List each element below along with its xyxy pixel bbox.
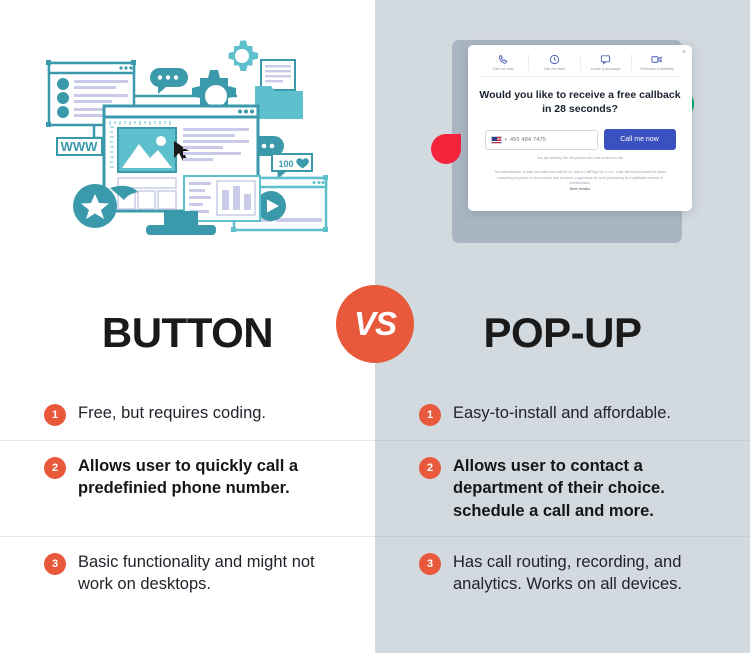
- row-1-left-text: Free, but requires coding.: [78, 402, 266, 424]
- popup-form-row: ▾ 455 484 7475 Call me now: [478, 129, 682, 150]
- close-icon[interactable]: ×: [682, 49, 686, 56]
- row-3-left-text: Basic functionality and might not work o…: [78, 551, 347, 596]
- row-2-left-text: Allows user to quickly call a predefinie…: [78, 455, 347, 500]
- button-illustration: WWW: [0, 0, 375, 278]
- call-me-now-button[interactable]: Call me now: [604, 129, 676, 150]
- comparison-infographic: WWW: [0, 0, 750, 653]
- popup-tab-call-me-later[interactable]: Call me later: [529, 54, 580, 71]
- svg-text:100: 100: [278, 159, 293, 169]
- row-1-left-cell: 1 Free, but requires coding.: [0, 388, 375, 440]
- clock-icon: [548, 54, 561, 65]
- popup-headline: Would you like to receive a free callbac…: [478, 89, 682, 116]
- popup-tab-label: Call me later: [544, 67, 565, 71]
- row-1-right-cell: 1 Easy-to-install and affordable.: [375, 388, 750, 440]
- phone-input[interactable]: ▾ 455 484 7475: [485, 130, 598, 150]
- us-flag-icon: [491, 136, 502, 144]
- comparison-row-2: 2 Allows user to quickly call a predefin…: [0, 441, 750, 536]
- row-1-left-number: 1: [44, 404, 66, 426]
- popup-tab-schedule-a-meeting[interactable]: Schedule a Meeting: [632, 54, 682, 71]
- row-1-right-number: 1: [419, 404, 441, 426]
- phone-number-value: 455 484 7475: [510, 137, 546, 143]
- row-3-right-number: 3: [419, 553, 441, 575]
- popup-tab-label: Leave a message: [591, 67, 621, 71]
- comparison-row-3: 3 Basic functionality and might not work…: [0, 537, 750, 610]
- video-icon: [650, 54, 663, 65]
- row-2-left-cell: 2 Allows user to quickly call a predefin…: [0, 441, 375, 536]
- row-2-right-text: Allows user to contact a department of t…: [453, 455, 722, 522]
- comparison-row-1: 1 Free, but requires coding. 1 Easy-to-i…: [0, 388, 750, 440]
- chat-icon: [599, 54, 612, 65]
- popup-tab-label: Call me now: [493, 67, 514, 71]
- row-1-right-text: Easy-to-install and affordable.: [453, 402, 671, 424]
- row-2-right-number: 2: [419, 457, 441, 479]
- popup-tab-bar: Call me now Call me later Leave a messag…: [478, 54, 682, 77]
- row-3-right-text: Has call routing, recording, and analyti…: [453, 551, 722, 596]
- row-2-left-number: 2: [44, 457, 66, 479]
- comparison-rows: 1 Free, but requires coding. 1 Easy-to-i…: [0, 388, 750, 609]
- popup-consent-text: You are already the 4th person who has o…: [478, 156, 682, 160]
- vs-badge: VS: [336, 285, 414, 363]
- phone-icon: [497, 54, 510, 65]
- chevron-down-icon[interactable]: ▾: [505, 137, 508, 143]
- popup-tab-label: Schedule a Meeting: [640, 67, 674, 71]
- website-builder-illustration: WWW: [22, 28, 352, 253]
- legal-body: The administrator of data you enter here…: [494, 170, 666, 185]
- vs-label: VS: [354, 305, 396, 343]
- svg-text:WWW: WWW: [61, 139, 99, 154]
- popup-tab-leave-a-message[interactable]: Leave a message: [581, 54, 632, 71]
- popup-legal-text: The administrator of data you enter here…: [478, 170, 682, 192]
- more-details-link[interactable]: More details: [494, 187, 666, 193]
- decorative-red-shape: [431, 134, 461, 164]
- row-3-left-cell: 3 Basic functionality and might not work…: [0, 537, 375, 610]
- row-3-right-cell: 3 Has call routing, recording, and analy…: [375, 537, 750, 610]
- popup-illustration: × Call me now Call me later: [375, 0, 750, 278]
- row-2-right-cell: 2 Allows user to contact a department of…: [375, 441, 750, 536]
- callback-popup-card: × Call me now Call me later: [468, 45, 692, 211]
- row-3-left-number: 3: [44, 553, 66, 575]
- popup-tab-call-me-now[interactable]: Call me now: [478, 54, 529, 71]
